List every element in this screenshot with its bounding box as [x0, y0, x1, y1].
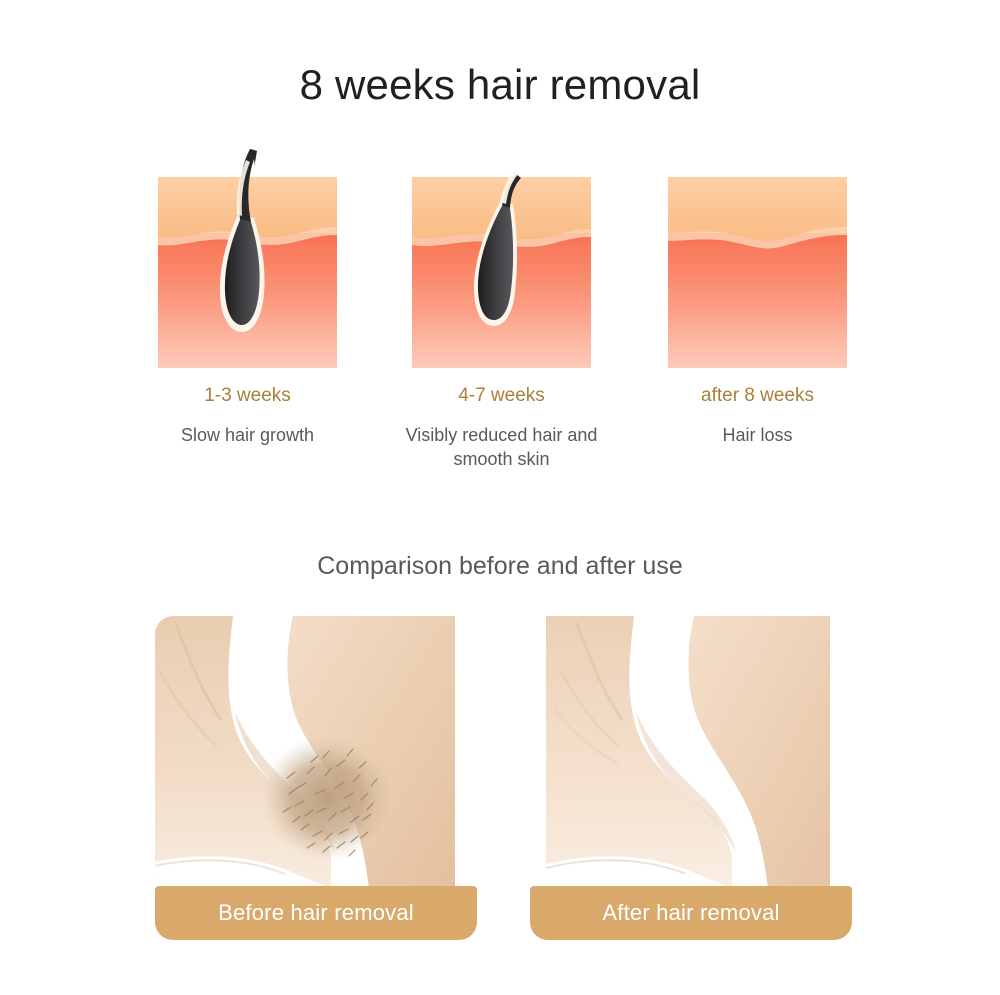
skin-no-hair-icon: [668, 148, 847, 368]
underarm-smooth-photo: [530, 616, 852, 888]
stage-label: 4-7 weeks: [404, 385, 599, 407]
photo-caption-after: After hair removal: [530, 886, 852, 940]
hair-strand-icon: [412, 148, 591, 368]
stage-label: after 8 weeks: [660, 385, 855, 407]
stage-description: Visibly reduced hair and smooth skin: [392, 423, 611, 472]
stage-item: 4-7 weeks Visibly reduced hair and smoot…: [404, 148, 599, 488]
underarm-with-hair-photo: [155, 616, 477, 888]
comparison-heading: Comparison before and after use: [0, 552, 1000, 581]
photo-caption-before: Before hair removal: [155, 886, 477, 940]
page-title: 8 weeks hair removal: [0, 62, 1000, 108]
stage-item: 1-3 weeks Slow hair growth: [150, 148, 345, 488]
comparison-item-before: Before hair removal: [155, 616, 477, 946]
stage-label: 1-3 weeks: [150, 385, 345, 407]
skin-boundary-wave: [668, 177, 847, 368]
hair-strand-icon: [158, 148, 337, 368]
comparison-photos: Before hair removal: [0, 616, 1000, 946]
skin-cross-section: [668, 177, 847, 368]
stage-description: Hair loss: [648, 423, 867, 447]
stage-description: Slow hair growth: [138, 423, 357, 447]
underarm-smooth-illustration: [530, 616, 852, 888]
stages-row: 1-3 weeks Slow hair growth: [140, 148, 868, 488]
hair-follicle-short-icon: [412, 148, 591, 368]
hair-follicle-long-icon: [158, 148, 337, 368]
stage-item: after 8 weeks Hair loss: [660, 148, 855, 488]
comparison-item-after: After hair removal: [530, 616, 852, 946]
underarm-with-hair-illustration: [155, 616, 477, 888]
